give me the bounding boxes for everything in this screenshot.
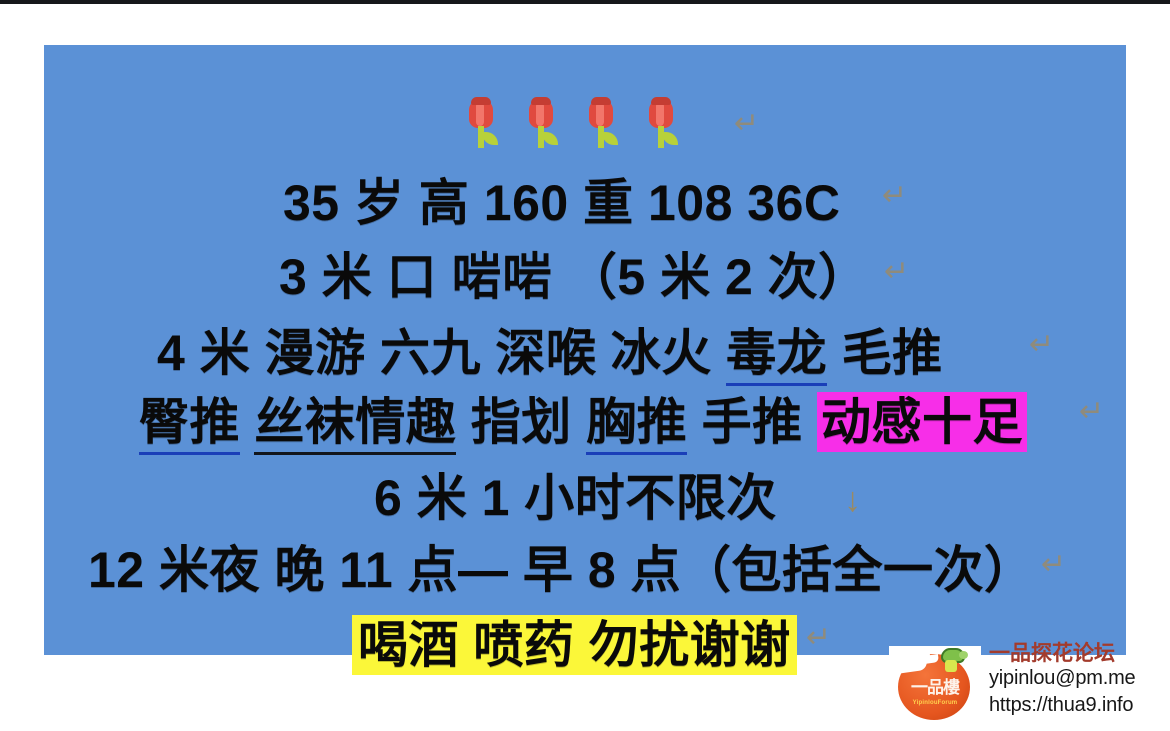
slide-line-3-seg-underlined: 毒龙 bbox=[726, 325, 827, 386]
slide-line-2: 3 米 口 啱啱 （5 米 2 次） bbox=[279, 252, 869, 302]
slide-line-7-yellow-highlight: 喝酒 喷药 勿扰谢谢 bbox=[352, 615, 797, 675]
return-glyph-icon: ↵ bbox=[1079, 397, 1104, 427]
watermark-text-block: 一品探花论坛 yipinlou@pm.me https://thua9.info bbox=[989, 642, 1169, 719]
top-edge-strip bbox=[0, 0, 1170, 4]
slide-line-4-seg-3: 指划 bbox=[456, 394, 586, 450]
forum-watermark: 一品樓 YipinlouForum 一品探花论坛 yipinlou@pm.me … bbox=[889, 642, 1170, 731]
rose-icon bbox=[524, 100, 558, 152]
forum-url: https://thua9.info bbox=[989, 692, 1169, 719]
slide-line-4: 臀推 丝袜情趣 指划 胸推 手推 动感十足 bbox=[139, 397, 1027, 447]
return-glyph-icon: ↵ bbox=[882, 181, 907, 211]
slide-line-4-magenta-highlight: 动感十足 bbox=[817, 392, 1027, 452]
slide-line-2-text: 3 米 口 啱啱 （5 米 2 次） bbox=[279, 249, 869, 305]
return-glyph-icon: ↵ bbox=[806, 623, 831, 653]
slide-line-5-text: 6 米 1 小时不限次 bbox=[374, 470, 777, 526]
down-arrow-icon: ↓ bbox=[844, 483, 861, 517]
rose-emoji-row bbox=[464, 100, 678, 152]
slide-line-3: 4 米 漫游 六九 深喉 冰火 毒龙 毛推 bbox=[157, 328, 943, 378]
slide-line-4-sp-1 bbox=[240, 394, 254, 450]
logo-chinese-text: 一品樓 bbox=[906, 680, 964, 697]
slide-line-3-seg-3: 毛推 bbox=[827, 325, 942, 381]
slide-line-4-seg-2: 丝袜情趣 bbox=[254, 394, 456, 455]
slide-line-4-seg-1: 臀推 bbox=[139, 394, 240, 455]
slide-line-1: 35 岁 高 160 重 108 36C bbox=[283, 178, 841, 228]
slide-line-6: 12 米夜 晚 11 点— 早 8 点（包括全一次） bbox=[88, 545, 1035, 595]
slide-line-5: 6 米 1 小时不限次 bbox=[374, 473, 777, 523]
return-glyph-icon: ↵ bbox=[884, 257, 909, 287]
blue-info-slide: ↵ 35 岁 高 160 重 108 36C ↵ 3 米 口 啱啱 （5 米 2… bbox=[44, 45, 1126, 655]
return-glyph-icon: ↵ bbox=[1041, 550, 1066, 580]
forum-logo: 一品樓 YipinlouForum bbox=[889, 646, 981, 726]
rose-icon bbox=[644, 100, 678, 152]
slide-line-4-seg-5: 手推 bbox=[687, 394, 817, 450]
forum-title: 一品探花论坛 bbox=[989, 642, 1169, 665]
rose-icon bbox=[584, 100, 618, 152]
logo-english-text: YipinlouForum bbox=[904, 700, 966, 706]
slide-line-6-text: 12 米夜 晚 11 点— 早 8 点（包括全一次） bbox=[88, 542, 1035, 598]
return-glyph-icon: ↵ bbox=[734, 109, 759, 139]
slide-line-7: 喝酒 喷药 勿扰谢谢 bbox=[352, 620, 797, 670]
slide-line-1-text: 35 岁 高 160 重 108 36C bbox=[283, 175, 841, 231]
forum-email: yipinlou@pm.me bbox=[989, 665, 1169, 692]
rose-icon bbox=[464, 100, 498, 152]
turtle-icon bbox=[937, 648, 967, 670]
slide-line-4-seg-4: 胸推 bbox=[586, 394, 687, 455]
return-glyph-icon: ↵ bbox=[1029, 330, 1054, 360]
slide-line-3-seg-1: 4 米 漫游 六九 深喉 冰火 bbox=[157, 325, 726, 381]
screenshot-canvas: ↵ 35 岁 高 160 重 108 36C ↵ 3 米 口 啱啱 （5 米 2… bbox=[0, 0, 1170, 731]
